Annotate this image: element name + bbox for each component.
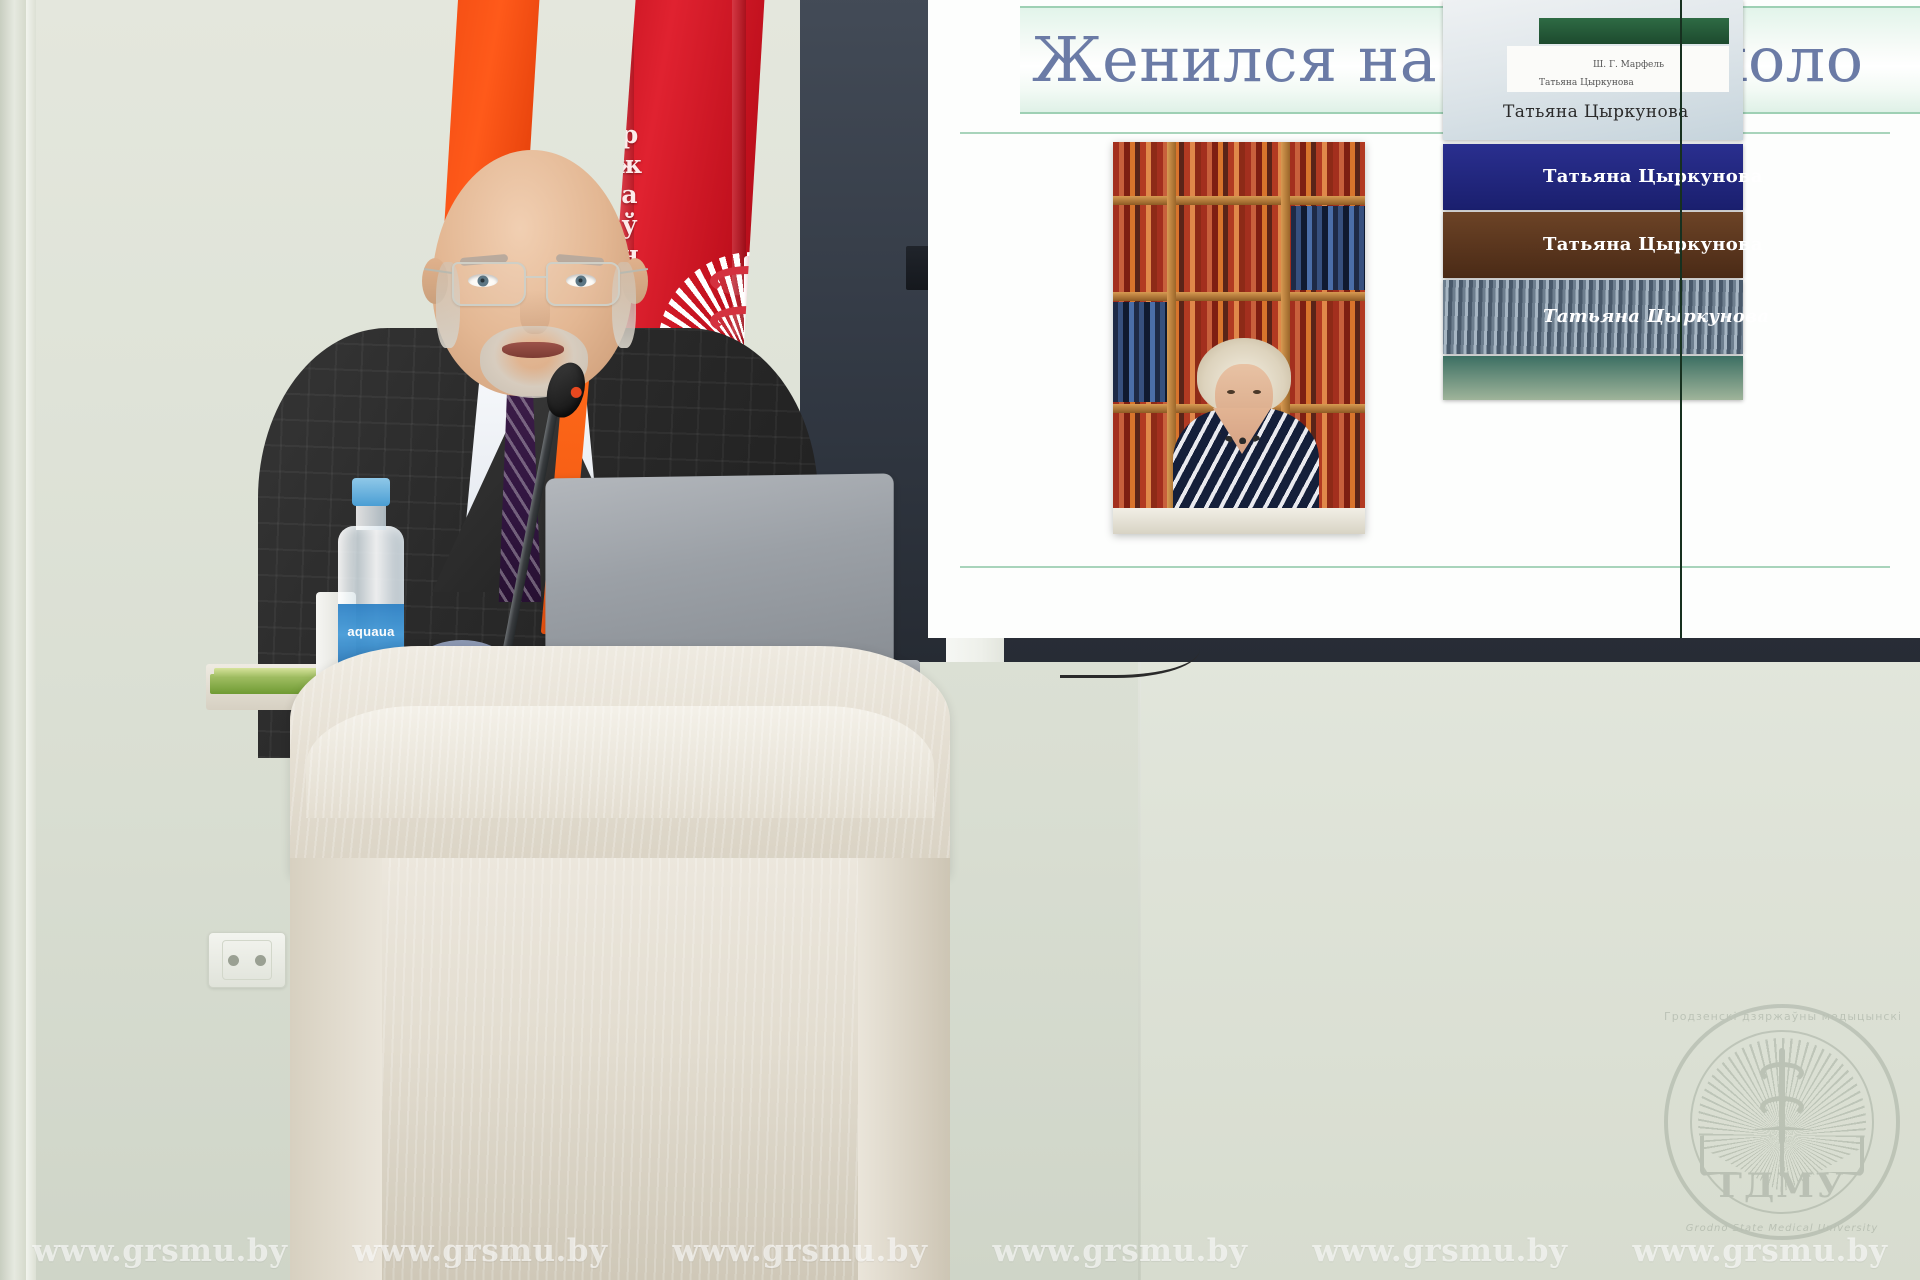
podium-edge-right [858, 858, 950, 1280]
seal-bottom-text: Grodno State Medical University [1664, 1223, 1900, 1234]
seal-top-text: Гродзенскі дзяржаўны медыцынскі ўніверсі… [1664, 1010, 1900, 1023]
green-book-top [214, 668, 322, 678]
podium-front-band [306, 706, 934, 818]
bottle-cap [352, 478, 390, 506]
outlet-ring [222, 940, 272, 980]
seal-snake-coil-icon [1760, 1062, 1804, 1084]
green-band [1539, 18, 1729, 44]
slide-rule-top [960, 132, 1890, 134]
shelf-dark-books [1291, 206, 1365, 290]
wall-left-edge [0, 0, 26, 1280]
book-cover-3: Татьяна Цыркунова [1443, 212, 1743, 278]
library-photo [1113, 142, 1365, 534]
book-author-1: Татьяна Цыркунова [1503, 102, 1689, 122]
seal-snake-coil-icon [1760, 1096, 1804, 1118]
slide-rule-bottom [960, 566, 1890, 568]
woman-portrait [1169, 338, 1319, 534]
mouth [502, 342, 564, 358]
book-author-3: Татьяна Цыркунова [1543, 234, 1763, 255]
eye-right [1253, 390, 1261, 394]
university-seal-watermark: ГДМУ Гродзенскі дзяржаўны медыцынскі ўні… [1664, 1004, 1900, 1240]
lens-left [452, 262, 526, 306]
book-cover-4: Татьяна Цыркунова [1443, 280, 1743, 354]
shelf-board [1113, 292, 1365, 301]
presentation-slide: Женился на «фармаколо [928, 0, 1920, 638]
seal-abbreviation: ГДМУ [1664, 1166, 1900, 1206]
desk-papers [1113, 508, 1365, 534]
wall-left-strip [26, 0, 36, 1280]
book-cover-5 [1443, 356, 1743, 400]
eyeglasses [446, 262, 626, 308]
glasses-bridge [526, 276, 546, 278]
podium-edge-left [290, 858, 382, 1280]
shelf-dark-books [1113, 302, 1167, 402]
eye-left [1227, 390, 1235, 394]
slide-divider-vertical-right [1680, 0, 1682, 638]
book-mini-line-1: Ш. Г. Марфель [1593, 60, 1664, 70]
podium-body [290, 858, 950, 1280]
book-author-2: Татьяна Цыркунова [1543, 166, 1763, 187]
power-outlet [208, 932, 286, 988]
bottle-label-text: aquaua [338, 624, 404, 639]
book-cover-2: Татьяна Цыркунова [1443, 144, 1743, 210]
book-mini-line-2: Татьяна Цыркунова [1539, 78, 1634, 88]
book-cover-collage: Ш. Г. Марфель Татьяна Цыркунова Татьяна … [1443, 0, 1743, 400]
necklace [1219, 418, 1265, 444]
screenshot-root: Женился на «фармаколо [0, 0, 1920, 1280]
laptop-screen[interactable] [545, 473, 893, 674]
bottle-neck [356, 504, 386, 530]
lens-right [546, 262, 620, 306]
book-cover-1: Ш. Г. Марфель Татьяна Цыркунова Татьяна … [1443, 0, 1743, 140]
book-author-4: Татьяна Цыркунова [1543, 306, 1769, 327]
shelf-board [1113, 196, 1365, 205]
